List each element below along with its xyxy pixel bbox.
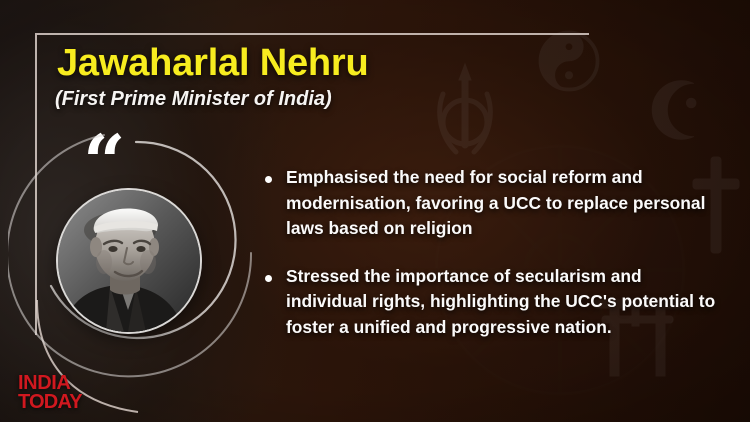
list-item: Stressed the importance of secularism an… (265, 264, 720, 341)
list-item-text: Stressed the importance of secularism an… (286, 264, 720, 341)
logo-line-2: TODAY (18, 393, 82, 412)
nehru-portrait (58, 190, 200, 332)
list-item-text: Emphasised the need for social reform an… (286, 165, 720, 242)
list-item: Emphasised the need for social reform an… (265, 165, 720, 242)
page-subtitle: (First Prime Minister of India) (55, 88, 332, 111)
bullet-list: Emphasised the need for social reform an… (265, 165, 720, 362)
bullet-dot-icon (265, 275, 272, 282)
india-today-logo: INDIA TODAY (18, 374, 82, 412)
bullet-dot-icon (265, 176, 272, 183)
page-title: Jawaharlal Nehru (57, 42, 369, 85)
quote-card: Jawaharlal Nehru (First Prime Minister o… (0, 0, 750, 422)
